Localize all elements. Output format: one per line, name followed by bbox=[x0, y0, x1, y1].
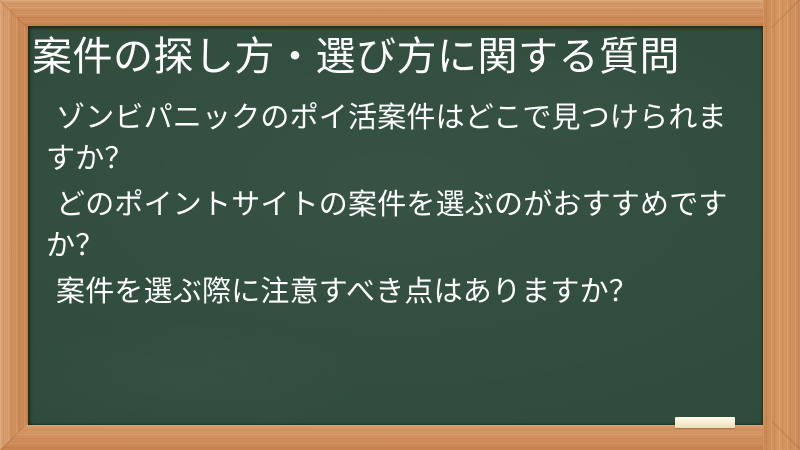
frame-mitre-top-right bbox=[771, 0, 800, 28]
frame-rail-right bbox=[763, 0, 800, 450]
frame-rail-bottom bbox=[0, 425, 800, 450]
list-item: 案件を選ぶ際に注意すべき点はありますか？ bbox=[46, 272, 746, 313]
list-item: ゾンビパニックのポイ活案件はどこで見つけられますか？ bbox=[46, 98, 746, 179]
question-list: ゾンビパニックのポイ活案件はどこで見つけられますか？ どのポイントサイトの案件を… bbox=[46, 98, 746, 319]
list-item: どのポイントサイトの案件を選ぶのがおすすめですか？ bbox=[46, 185, 746, 266]
chalk-stick bbox=[675, 417, 735, 428]
frame-rail-top bbox=[0, 0, 800, 26]
frame-rail-left bbox=[0, 0, 28, 450]
chalkboard-surface: 案件の探し方・選び方に関する質問 ゾンビパニックのポイ活案件はどこで見つけられま… bbox=[28, 26, 763, 425]
frame-mitre-bottom-right bbox=[772, 421, 800, 450]
frame-mitre-bottom-left bbox=[0, 422, 29, 450]
frame-mitre-top-left bbox=[0, 0, 28, 29]
page-title: 案件の探し方・選び方に関する質問 bbox=[32, 34, 752, 81]
chalkboard-frame: 案件の探し方・選び方に関する質問 ゾンビパニックのポイ活案件はどこで見つけられま… bbox=[0, 0, 800, 450]
